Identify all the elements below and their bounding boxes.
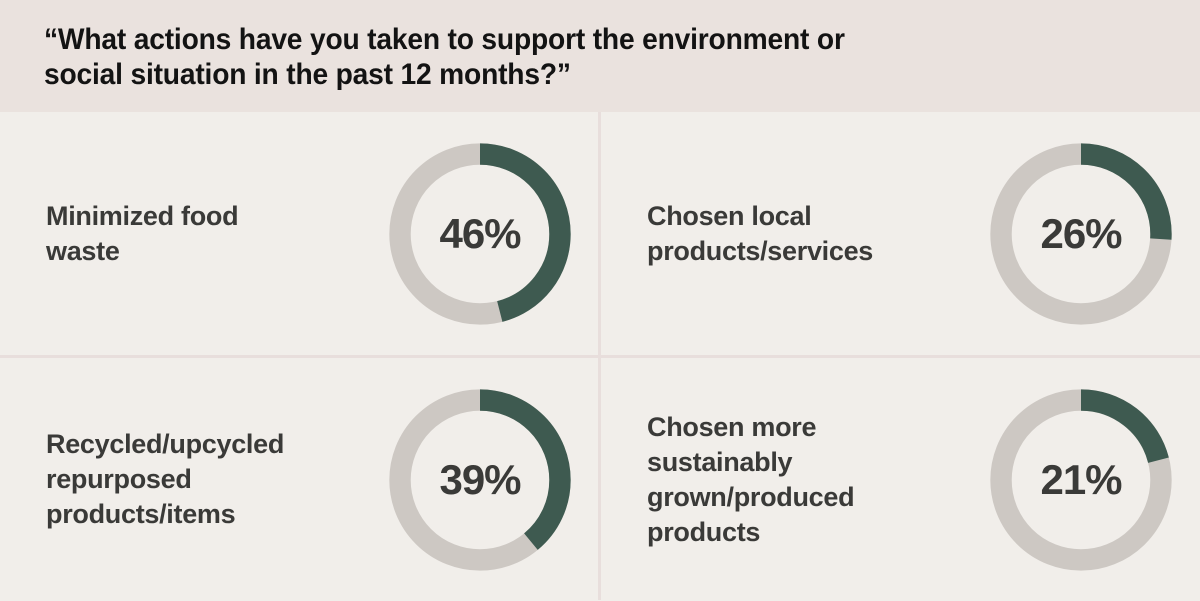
stat-label: Minimized food waste <box>0 199 380 269</box>
donut-svg <box>387 387 573 573</box>
donut-svg <box>387 141 573 327</box>
donut-chart: 21% <box>981 380 1181 580</box>
stat-cell-chosen-local-products: Chosen local products/services 26% <box>601 112 1199 355</box>
stat-label: Chosen local products/services <box>601 199 981 269</box>
donut-chart: 26% <box>981 134 1181 334</box>
infographic-root: “What actions have you taken to support … <box>0 0 1200 600</box>
stats-grid: Minimized food waste 46% Chosen local pr… <box>0 112 1200 600</box>
donut-chart: 46% <box>380 134 580 334</box>
donut-svg <box>988 387 1174 573</box>
stat-label: Chosen more sustainably grown/produced p… <box>601 410 981 550</box>
stat-cell-minimized-food-waste: Minimized food waste 46% <box>0 112 598 355</box>
stat-cell-recycled-upcycled: Recycled/upcycled repurposed products/it… <box>0 358 598 601</box>
stat-label: Recycled/upcycled repurposed products/it… <box>0 427 380 532</box>
stat-cell-sustainably-grown: Chosen more sustainably grown/produced p… <box>601 358 1199 601</box>
donut-chart: 39% <box>380 380 580 580</box>
header-banner: “What actions have you taken to support … <box>0 0 1200 112</box>
donut-svg <box>988 141 1174 327</box>
page-title: “What actions have you taken to support … <box>44 22 1089 92</box>
